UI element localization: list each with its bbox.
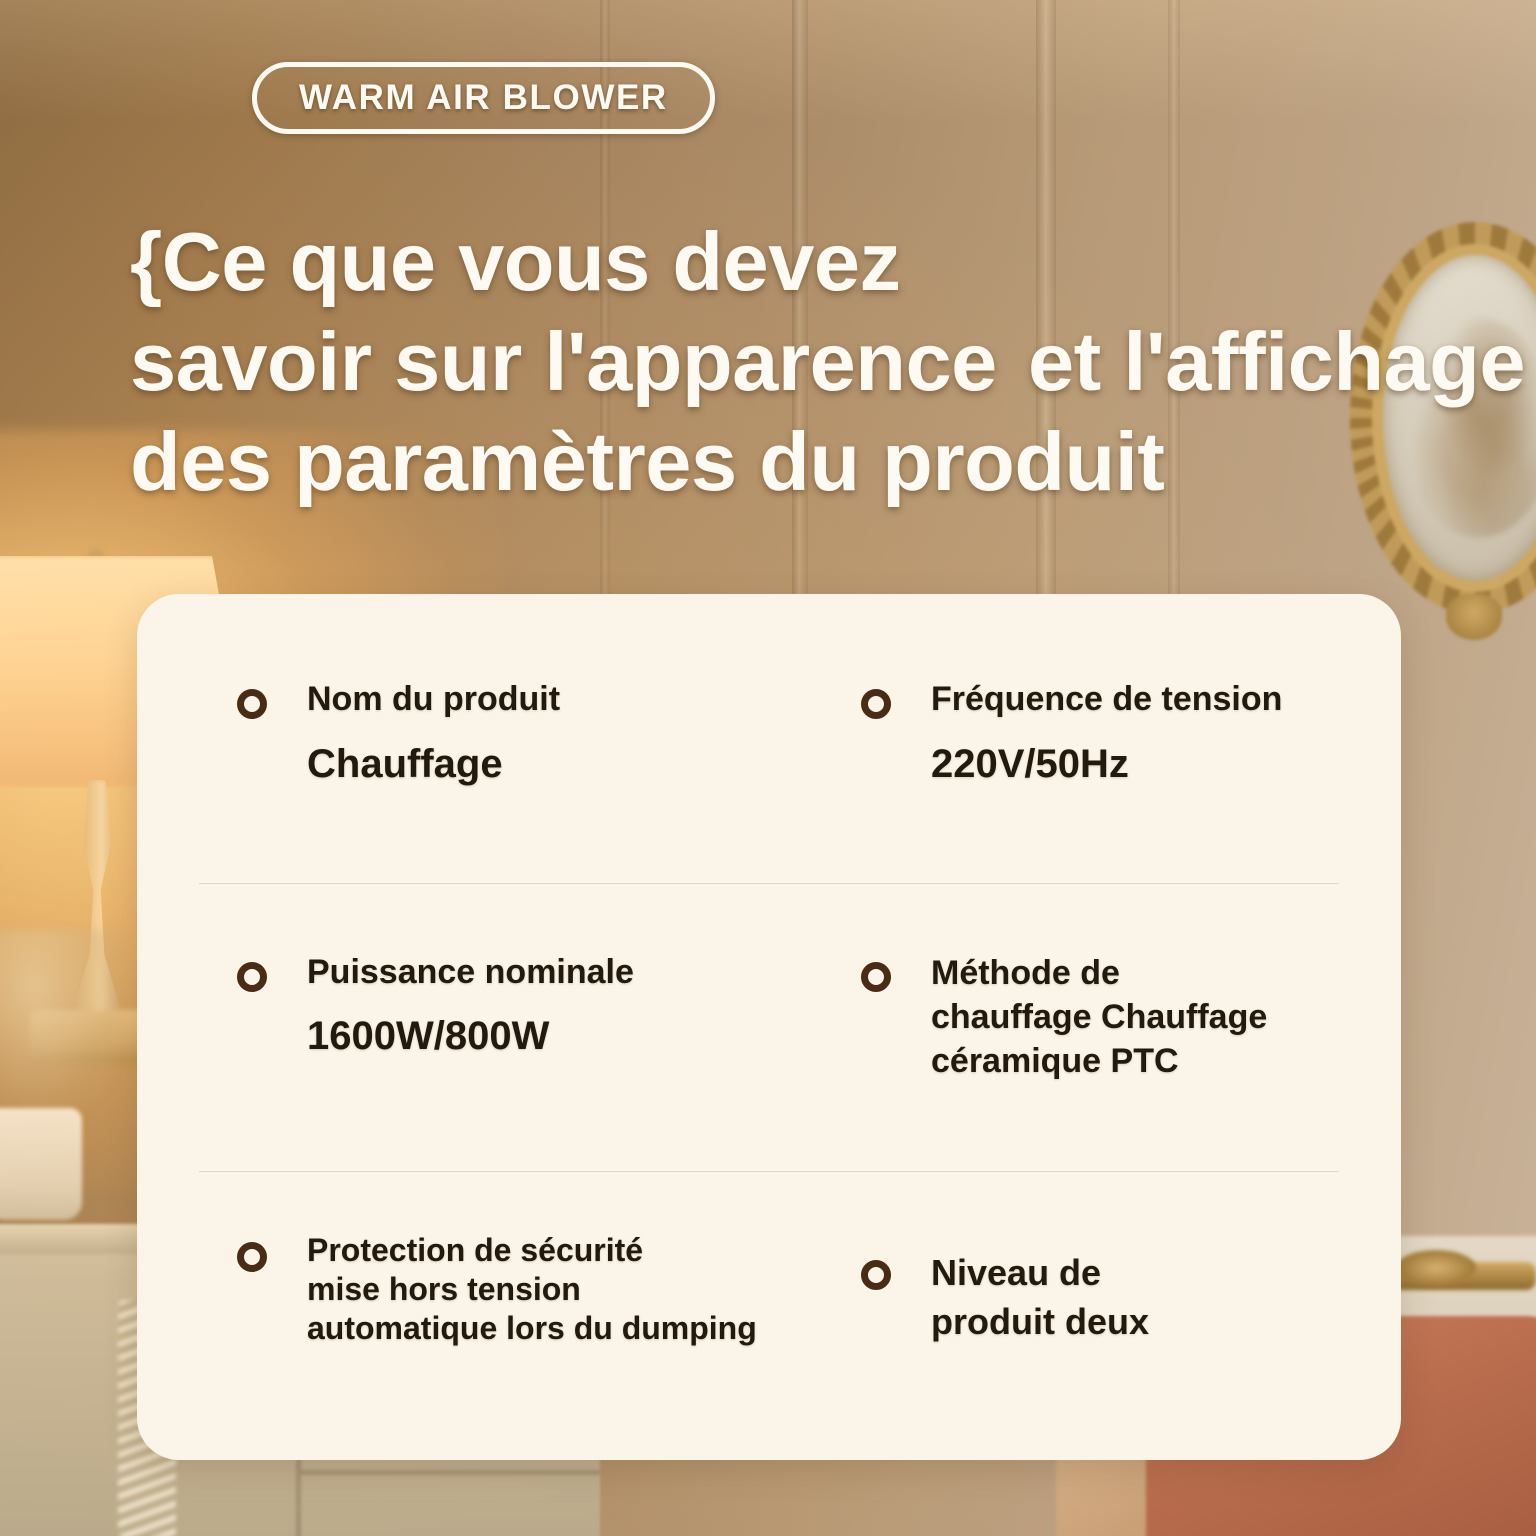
headline-line-3: des paramètres du produit: [130, 412, 1460, 512]
headline-line-1: {Ce que vous devez: [130, 212, 1460, 312]
ring-bullet-icon: [237, 1242, 267, 1272]
spec-item-safety-protection: Protection de sécurité mise hors tension…: [137, 1171, 765, 1460]
spec-item-text: Fréquence de tension 220V/50Hz: [931, 678, 1282, 788]
product-category-badge: WARM AIR BLOWER: [252, 62, 715, 134]
spec-item-text: Protection de sécurité mise hors tension…: [307, 1231, 757, 1348]
product-spec-card: Nom du produit Chauffage Fréquence de te…: [137, 594, 1401, 1460]
ring-bullet-icon: [861, 689, 891, 719]
ring-bullet-icon: [861, 962, 891, 992]
spec-value: 220V/50Hz: [931, 740, 1282, 788]
spec-label: Niveau de produit deux: [931, 1249, 1149, 1345]
spec-label: Méthode de chauffage Chauffage céramique…: [931, 951, 1267, 1084]
headline-line-2: savoir sur l'apparence et l'affichage: [130, 312, 1460, 412]
spec-label: Protection de sécurité mise hors tension…: [307, 1231, 757, 1348]
spec-row: Puissance nominale 1600W/800W Méthode de…: [137, 883, 1401, 1172]
ring-bullet-icon: [861, 1260, 891, 1290]
ring-bullet-icon: [237, 689, 267, 719]
spec-item-text: Puissance nominale 1600W/800W: [307, 951, 634, 1061]
headline-line-2-run-a: savoir sur l'apparence: [130, 312, 997, 412]
spec-row-list: Nom du produit Chauffage Fréquence de te…: [137, 594, 1401, 1460]
headline-line-2-run-b: et l'affichage: [1028, 312, 1525, 412]
spec-row: Nom du produit Chauffage Fréquence de te…: [137, 594, 1401, 883]
ring-bullet-icon: [237, 962, 267, 992]
spec-label: Puissance nominale: [307, 951, 634, 995]
spec-row: Protection de sécurité mise hors tension…: [137, 1171, 1401, 1460]
spec-item-text: Méthode de chauffage Chauffage céramique…: [931, 951, 1267, 1084]
spec-value: 1600W/800W: [307, 1012, 634, 1060]
spec-item-product-name: Nom du produit Chauffage: [137, 594, 765, 883]
page-title: {Ce que vous devez savoir sur l'apparenc…: [130, 212, 1460, 511]
spec-item-text: Nom du produit Chauffage: [307, 678, 560, 788]
spec-label: Nom du produit: [307, 678, 560, 722]
spec-item-voltage-frequency: Fréquence de tension 220V/50Hz: [765, 594, 1401, 883]
spec-item-rated-power: Puissance nominale 1600W/800W: [137, 883, 765, 1172]
spec-item-text: Niveau de produit deux: [931, 1249, 1149, 1345]
spec-item-heating-method: Méthode de chauffage Chauffage céramique…: [765, 883, 1401, 1172]
spec-value: Chauffage: [307, 740, 560, 788]
poster-root: WARM AIR BLOWER {Ce que vous devez savoi…: [0, 0, 1536, 1536]
spec-label: Fréquence de tension: [931, 678, 1282, 722]
spec-item-product-level: Niveau de produit deux: [765, 1171, 1401, 1460]
